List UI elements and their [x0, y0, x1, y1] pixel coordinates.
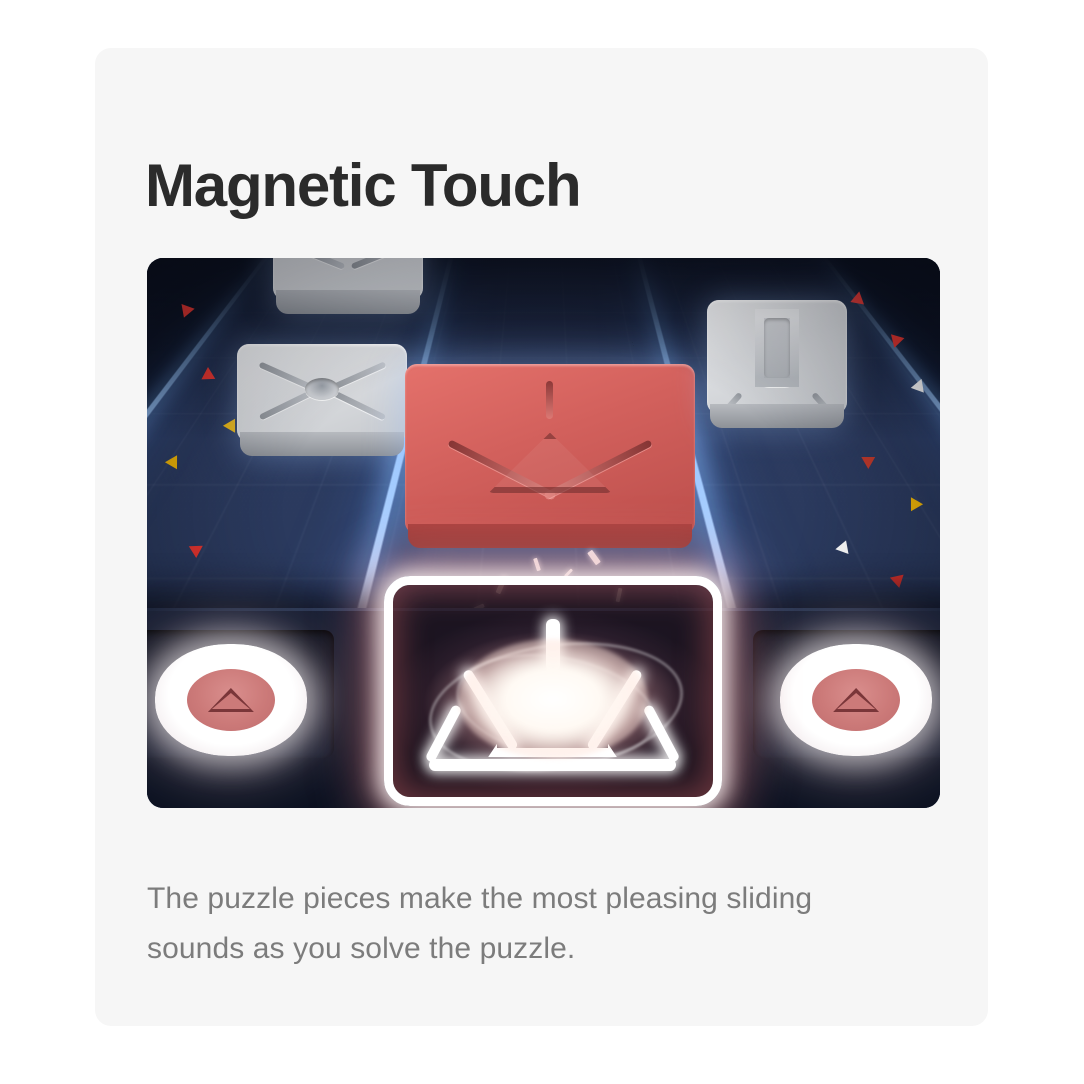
tile-hub: [305, 378, 339, 400]
tile-side: [710, 404, 844, 428]
tile-side: [240, 432, 404, 456]
feature-card: Magnetic Touch: [95, 48, 988, 1026]
page-title: Magnetic Touch: [145, 156, 580, 216]
feature-media-image: [147, 258, 940, 808]
cross-hub-glyph-icon: [254, 354, 390, 430]
puzzle-tile-top-left[interactable]: [273, 258, 423, 314]
tile-cap: [707, 300, 847, 414]
cross-glyph-icon: [288, 258, 408, 290]
triangle-outline-icon: [208, 688, 254, 712]
triangle-glyph-icon: [440, 388, 660, 500]
tile-side: [276, 290, 420, 314]
confetti-particle: [189, 546, 203, 558]
console-panel: [147, 608, 940, 808]
glyph-foot-right: [643, 704, 681, 763]
puzzle-tile-right[interactable]: [707, 300, 847, 428]
feature-caption: The puzzle pieces make the most pleasing…: [147, 874, 887, 974]
action-button-left[interactable]: [155, 644, 307, 756]
action-button-disc: [187, 669, 275, 731]
tile-cap: [405, 364, 695, 534]
glyph-foot-left: [424, 704, 462, 763]
socket-left: [147, 630, 334, 758]
tile-cap: [237, 344, 407, 442]
socket-right: [753, 630, 940, 758]
action-button-right[interactable]: [780, 644, 932, 756]
puzzle-tile-mid-left[interactable]: [237, 344, 407, 456]
puzzle-tile-center-red[interactable]: [405, 364, 695, 548]
triangle-inner: [488, 433, 611, 494]
target-slot[interactable]: [384, 576, 722, 806]
tile-side: [408, 524, 692, 548]
bar-glyph-icon: [755, 309, 800, 387]
action-button-disc: [812, 669, 900, 731]
glyph-base: [429, 759, 676, 771]
triangle-outline-icon: [833, 688, 879, 712]
flash-burst: [458, 639, 648, 759]
